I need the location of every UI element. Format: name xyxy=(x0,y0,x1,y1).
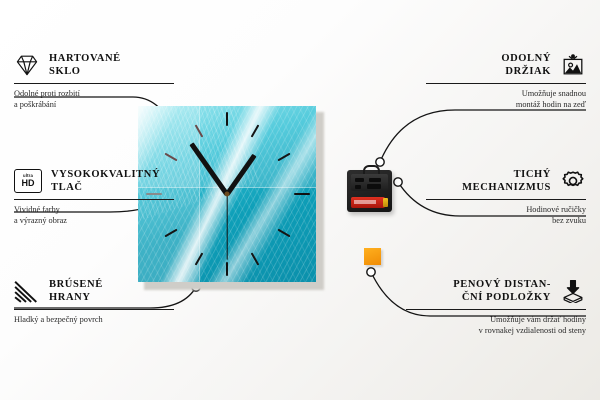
picture-hanger-icon xyxy=(560,53,586,77)
feature-description: Odolné proti rozbití a poškrábání xyxy=(14,88,174,110)
second-hand xyxy=(226,194,227,260)
divider xyxy=(14,83,174,84)
hands-hub xyxy=(225,192,230,197)
hd-label: HD xyxy=(22,179,35,188)
mechanism-slot-b xyxy=(369,178,381,182)
hour-tick-12 xyxy=(226,112,228,126)
divider xyxy=(426,199,586,200)
battery-label xyxy=(354,200,376,204)
hour-tick-3 xyxy=(294,193,310,195)
feature-title: TICHÝ MECHANIZMUS xyxy=(462,168,551,194)
feature-title: PENOVÝ DISTAN- ČNÍ PODLOŽKY xyxy=(453,278,551,304)
beveled-edge-icon xyxy=(14,279,40,303)
mechanism-slot-d xyxy=(367,184,381,189)
foam-pad-marker xyxy=(367,268,375,276)
feature-durable-hanger: ODOLNÝ DRŽIAK Umožňuje snadnou montáž ho… xyxy=(426,52,586,110)
divider xyxy=(14,199,174,200)
hour-tick-6 xyxy=(226,262,228,276)
feature-beveled-edges: BRÚSENÉ HRANY Hladký a bezpečný povrch xyxy=(14,278,174,325)
divider xyxy=(406,309,586,310)
mechanism-slot-c xyxy=(355,185,361,189)
mechanism-slot-a xyxy=(355,178,364,182)
gear-icon xyxy=(560,169,586,193)
divider xyxy=(426,83,586,84)
diamond-icon xyxy=(14,53,40,77)
mechanism-hanger-hook xyxy=(363,165,380,174)
feature-foam-spacers: PENOVÝ DISTAN- ČNÍ PODLOŽKY Umožňuje vám… xyxy=(406,278,586,336)
foam-spacer-icon xyxy=(560,279,586,303)
battery-terminal xyxy=(383,198,388,207)
feature-tempered-glass: HARTOVANÉ SKLO Odolné proti rozbití a po… xyxy=(14,52,174,110)
divider xyxy=(14,309,174,310)
clock-mechanism xyxy=(347,170,392,212)
feature-title: HARTOVANÉ SKLO xyxy=(49,52,121,78)
ultra-hd-badge-icon: ultra HD xyxy=(14,169,42,193)
feature-description: Hladký a bezpečný povrch xyxy=(14,314,174,325)
feature-description: Umožňuje vám držať hodiny v rovnakej vzd… xyxy=(406,314,586,336)
connector-line-hanger xyxy=(380,110,586,162)
feature-title: VYSOKOKVALITNÝ TLAČ xyxy=(51,168,160,194)
feature-description: Hodinové ručičky bez zvuku xyxy=(426,204,586,226)
feature-title: BRÚSENÉ HRANY xyxy=(49,278,103,304)
feature-description: Vividné farby a výrazný obraz xyxy=(14,204,174,226)
mechanism-marker xyxy=(394,178,402,186)
infographic-canvas: HARTOVANÉ SKLO Odolné proti rozbití a po… xyxy=(0,0,600,400)
feature-title: ODOLNÝ DRŽIAK xyxy=(501,52,551,78)
aa-battery xyxy=(351,197,385,208)
feature-silent-mechanism: TICHÝ MECHANIZMUS Hodinové ručičky bez z… xyxy=(426,168,586,226)
feature-high-quality-print: ultra HD VYSOKOKVALITNÝ TLAČ Vividné far… xyxy=(14,168,174,226)
foam-spacer-pad xyxy=(364,248,381,265)
feature-description: Umožňuje snadnou montáž hodin na zeď xyxy=(426,88,586,110)
